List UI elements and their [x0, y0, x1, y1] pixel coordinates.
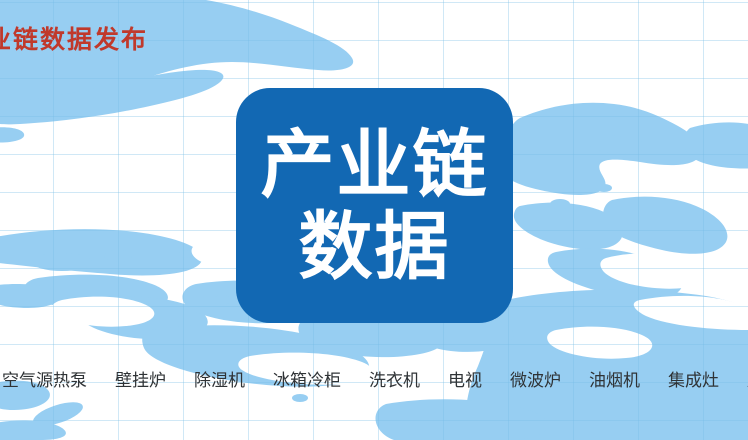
- category-nav-item[interactable]: 冰箱冷柜: [259, 366, 355, 396]
- category-nav[interactable]: 空气源热泵壁挂炉除湿机冰箱冷柜洗衣机电视微波炉油烟机集成灶压缩机空调电: [0, 366, 748, 396]
- category-nav-item[interactable]: 电视: [434, 366, 496, 396]
- page-headline: 业链数据发布: [0, 28, 148, 53]
- hero-title-line-2: 数据: [299, 208, 451, 286]
- category-nav-item[interactable]: 壁挂炉: [101, 366, 180, 396]
- category-nav-item[interactable]: 微波炉: [496, 366, 575, 396]
- hero-card[interactable]: 产业链 数据: [236, 88, 513, 323]
- category-nav-item[interactable]: 除湿机: [180, 366, 259, 396]
- category-nav-item[interactable]: 洗衣机: [355, 366, 434, 396]
- category-nav-item[interactable]: 油烟机: [575, 366, 654, 396]
- category-nav-item[interactable]: 集成灶: [654, 366, 733, 396]
- category-nav-item[interactable]: 空气源热泵: [0, 366, 101, 396]
- hero-title-line-1: 产业链: [261, 126, 489, 204]
- category-nav-item[interactable]: 压缩机: [733, 366, 748, 396]
- page-root: 业链数据发布 产业链 数据 空气源热泵壁挂炉除湿机冰箱冷柜洗衣机电视微波炉油烟机…: [0, 0, 748, 440]
